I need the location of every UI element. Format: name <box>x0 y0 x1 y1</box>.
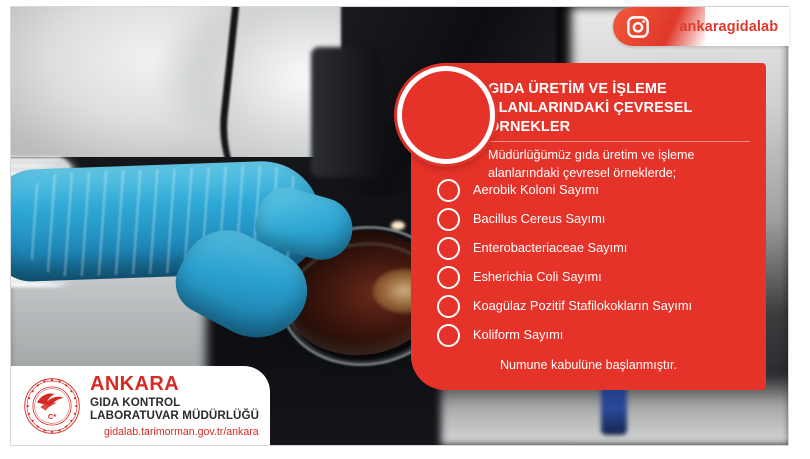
list-item-label: Koliform Sayımı <box>473 327 563 342</box>
chevron-right-icon <box>437 237 460 260</box>
chevron-right-icon <box>437 266 460 289</box>
instagram-handle: @ ankaragidalab <box>661 19 778 35</box>
chevron-right-icon <box>437 324 460 347</box>
list-item-label: Enterobacteriaceae Sayımı <box>473 240 627 255</box>
logo-line-laboratuvar: LABORATUVAR MÜDÜRLÜĞÜ <box>90 410 259 422</box>
chevron-right-icon <box>437 295 460 318</box>
logo-text-block: ANKARA GIDA KONTROL LABORATUVAR MÜDÜRLÜĞ… <box>90 374 259 438</box>
logo-line-ankara: ANKARA <box>90 373 179 395</box>
ministry-seal-icon: C* <box>23 377 81 435</box>
logo-line-gida-kontrol: GIDA KONTROL <box>90 397 259 409</box>
list-item[interactable]: Koagülaz Pozitif Stafilokokların Sayımı <box>437 292 757 320</box>
chevron-medallion <box>397 66 495 164</box>
list-item[interactable]: Bacillus Cereus Sayımı <box>437 205 757 233</box>
list-item[interactable]: Esherichia Coli Sayımı <box>437 263 757 291</box>
list-item[interactable]: Koliform Sayımı <box>437 321 757 349</box>
list-item-label: Aerobik Koloni Sayımı <box>473 182 599 197</box>
svg-text:C*: C* <box>48 411 56 420</box>
list-item-label: Esherichia Coli Sayımı <box>473 269 602 284</box>
poster-root: @ ankaragidalab GIDA ÜRETİM VE İŞLEME AL… <box>0 0 810 459</box>
list-item[interactable]: Aerobik Koloni Sayımı <box>437 176 757 204</box>
list-item[interactable]: Enterobacteriaceae Sayımı <box>437 234 757 262</box>
title-divider <box>488 141 750 142</box>
instagram-icon <box>627 16 649 38</box>
petri-dish-highlight <box>391 221 405 230</box>
panel-title: GIDA ÜRETİM VE İŞLEME ALANLARINDAKİ ÇEVR… <box>488 80 752 137</box>
chevron-right-icon <box>437 179 460 202</box>
list-item-label: Bacillus Cereus Sayımı <box>473 211 605 226</box>
logo-website-url[interactable]: gidalab.tarimorman.gov.tr/ankara <box>104 427 259 438</box>
analysis-list: Aerobik Koloni Sayımı Bacillus Cereus Sa… <box>437 176 757 350</box>
chevron-right-icon <box>423 92 469 138</box>
list-item-label: Koagülaz Pozitif Stafilokokların Sayımı <box>473 298 692 313</box>
instagram-badge[interactable]: @ ankaragidalab <box>613 7 789 46</box>
ministry-logo-card: C* ANKARA GIDA KONTROL LABORATUVAR MÜDÜR… <box>11 366 270 445</box>
chevron-right-icon <box>437 208 460 231</box>
panel-footer-text: Numune kabulüne başlanmıştır. <box>411 358 766 372</box>
